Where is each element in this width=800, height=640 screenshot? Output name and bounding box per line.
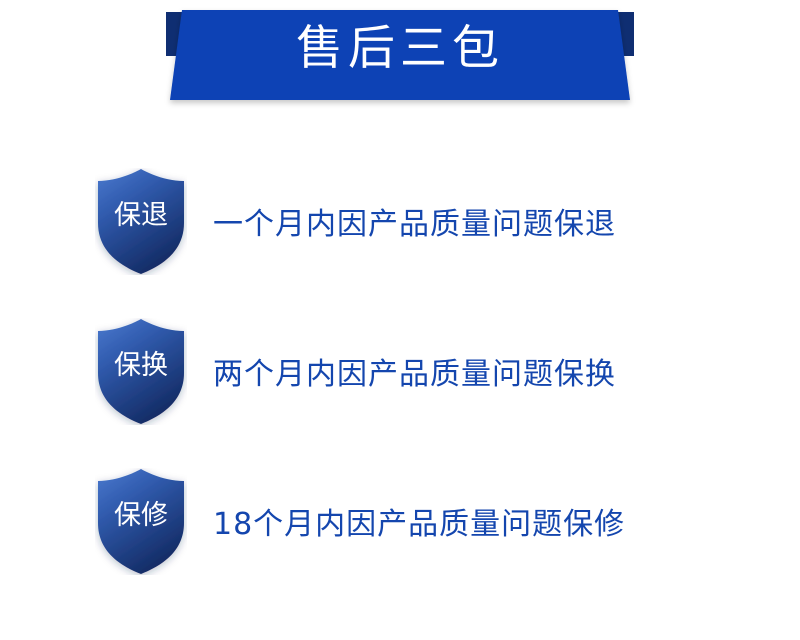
- page-root: { "banner": { "title": "售后三包", "ribbon_c…: [0, 0, 800, 640]
- shield-badge-exchange: 保换: [95, 318, 187, 425]
- guarantee-row-repair: 保修 18个月内因产品质量问题保修: [0, 450, 800, 600]
- shield-badge-text: 保修: [95, 468, 187, 575]
- shield-badge-text: 保退: [95, 168, 187, 275]
- ribbon-banner: 售后三包: [0, 0, 800, 120]
- guarantee-list: 保退 一个月内因产品质量问题保退 保换 两个月内因产品: [0, 150, 800, 600]
- shield-badge-repair: 保修: [95, 468, 187, 575]
- shield-badge-return: 保退: [95, 168, 187, 275]
- guarantee-text-repair: 18个月内因产品质量问题保修: [213, 450, 625, 600]
- guarantee-row-exchange: 保换 两个月内因产品质量问题保换: [0, 300, 800, 450]
- guarantee-text-exchange: 两个月内因产品质量问题保换: [213, 300, 616, 450]
- guarantee-row-return: 保退 一个月内因产品质量问题保退: [0, 150, 800, 300]
- guarantee-text-return: 一个月内因产品质量问题保退: [213, 150, 616, 300]
- page-title: 售后三包: [0, 0, 800, 100]
- shield-badge-text: 保换: [95, 318, 187, 425]
